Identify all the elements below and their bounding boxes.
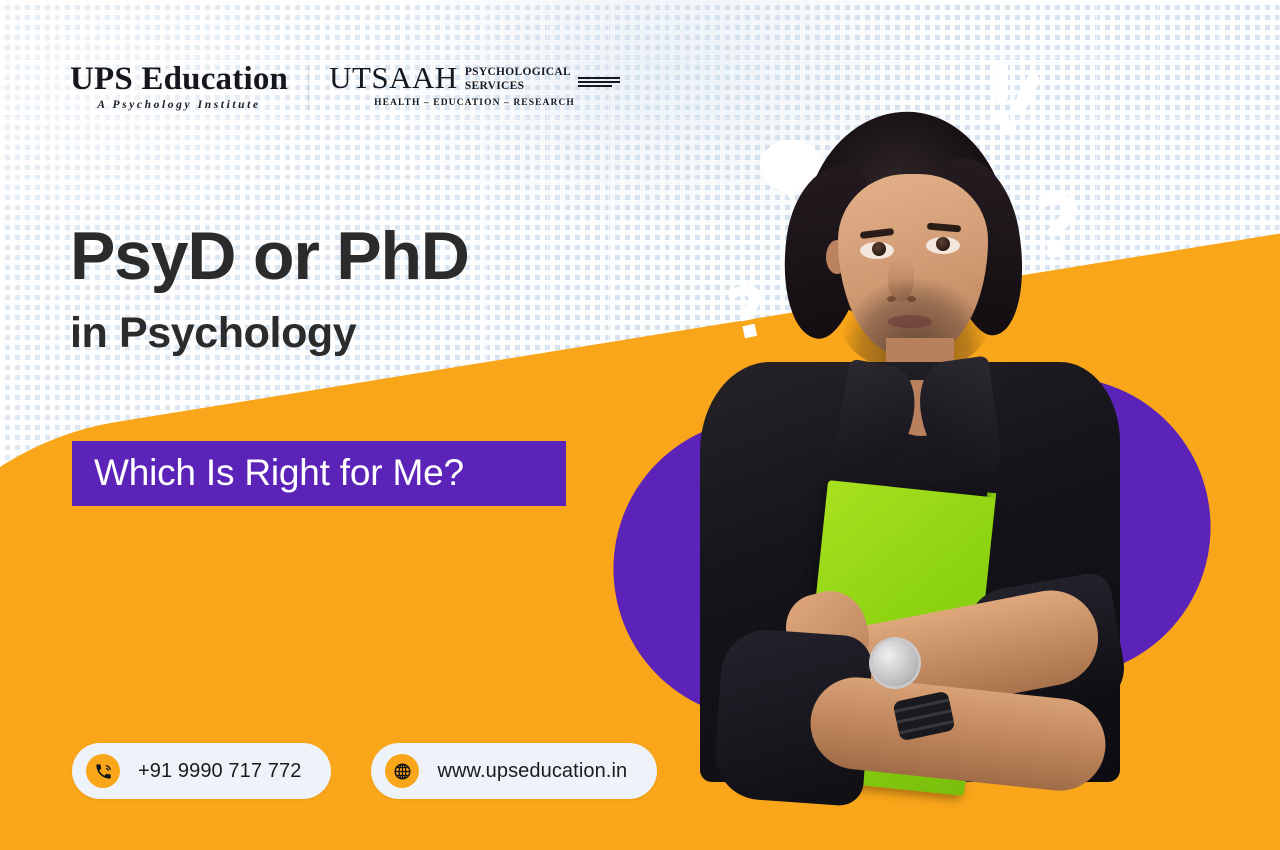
utsaah-logo-row: UTSAAH PSYCHOLOGICAL SERVICES (329, 62, 620, 93)
contact-phone-label: +91 9990 717 772 (138, 760, 301, 783)
iris-left (872, 242, 886, 256)
iris-right (936, 237, 950, 251)
utsaah-logo-rule-lines (578, 62, 620, 87)
utsaah-logo-tagline: HEALTH – EDUCATION – RESEARCH (329, 98, 620, 108)
headline-line-1: PsyD or PhD (70, 222, 469, 290)
headline-block: PsyD or PhD in Psychology Which Is Right… (70, 222, 469, 355)
logo-bar: UPS Education A Psychology Institute UTS… (70, 62, 620, 111)
person-photo (690, 112, 1120, 782)
logo-divider (308, 66, 309, 110)
headline-line-2: in Psychology (70, 312, 469, 355)
headline-band-text: Which Is Right for Me? (94, 452, 464, 493)
contact-phone-pill[interactable]: +91 9990 717 772 (72, 743, 331, 799)
headline-highlight-band: Which Is Right for Me? (72, 441, 566, 506)
ups-education-logo[interactable]: UPS Education A Psychology Institute (70, 62, 288, 111)
utsaah-stack-line1: PSYCHOLOGICAL (465, 65, 571, 79)
contact-website-label: www.upseducation.in (437, 760, 627, 783)
phone-icon (86, 754, 120, 788)
utsaah-logo-stack: PSYCHOLOGICAL SERVICES (465, 62, 571, 93)
contact-website-pill[interactable]: www.upseducation.in (371, 743, 657, 799)
ups-logo-tagline: A Psychology Institute (70, 99, 288, 111)
utsaah-stack-line2: SERVICES (465, 79, 571, 93)
contact-bar: +91 9990 717 772 www.upseducation.in (72, 743, 657, 799)
utsaah-logo-word: UTSAAH (329, 62, 458, 93)
utsaah-logo[interactable]: UTSAAH PSYCHOLOGICAL SERVICES HEALTH – E… (329, 62, 620, 108)
globe-icon (385, 754, 419, 788)
poster-canvas: ? ? UPS Educa (0, 0, 1280, 850)
ups-logo-name: UPS Education (70, 62, 288, 97)
